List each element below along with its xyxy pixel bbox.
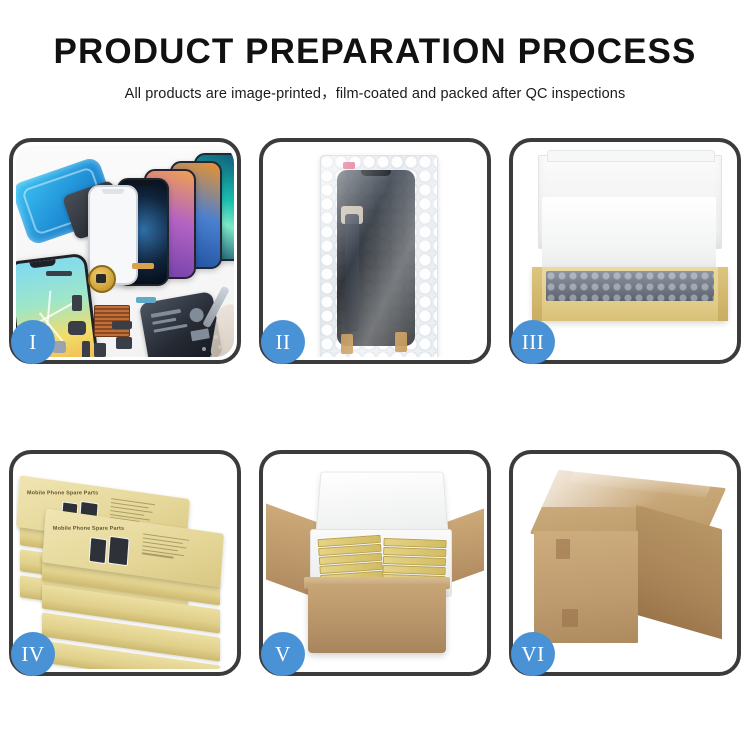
- step-badge-3: III: [511, 320, 555, 364]
- step-badge-4: IV: [11, 632, 55, 676]
- page-subtitle: All products are image-printed，film-coat…: [0, 82, 750, 103]
- step-panel-4: Mobile Phone Spare Parts Mobile Phone Sp…: [9, 450, 241, 676]
- earpiece-mesh-icon: [46, 271, 72, 276]
- connector-right-icon: [395, 332, 407, 352]
- packed-retail-boxes-icon: [319, 537, 443, 581]
- step-panel-2: II: [259, 138, 491, 364]
- box-label-text-back: Mobile Phone Spare Parts: [27, 490, 99, 496]
- bubble-wrapped-items-icon: [546, 271, 714, 301]
- step-panel-1: I: [9, 138, 241, 364]
- tape-strip-lower: [562, 609, 578, 627]
- flex-cable-orange-icon: [132, 263, 154, 269]
- part-bit-a: [72, 295, 82, 311]
- foam-sheet-icon: [542, 197, 716, 275]
- step-badge-1: I: [11, 320, 55, 364]
- carton-body-icon: [308, 585, 446, 653]
- step-3-image: [516, 145, 734, 357]
- part-bit-c: [94, 343, 106, 357]
- step-2-image: [266, 145, 484, 357]
- speaker-coil-icon: [88, 265, 116, 293]
- flex-cable-icon: [345, 214, 359, 332]
- step-4-image: Mobile Phone Spare Parts Mobile Phone Sp…: [16, 457, 234, 669]
- part-bit-e: [112, 321, 132, 329]
- pink-label-icon: [343, 162, 355, 169]
- process-step-grid: I II: [0, 138, 750, 676]
- page-title: PRODUCT PREPARATION PROCESS: [0, 34, 750, 69]
- tray-left-wall: [532, 267, 542, 321]
- step-badge-6: VI: [511, 632, 555, 676]
- connector-left-icon: [341, 334, 353, 354]
- carton-side-face: [636, 505, 722, 640]
- step-6-image: [516, 457, 734, 669]
- box-label-text-front: Mobile Phone Spare Parts: [53, 526, 125, 532]
- step-panel-3: III: [509, 138, 741, 364]
- step-panel-5: V: [259, 450, 491, 676]
- part-bit-b: [68, 321, 86, 335]
- part-bit-d: [116, 337, 132, 349]
- step-1-image: [16, 145, 234, 357]
- tray-right-wall: [718, 267, 728, 321]
- step-badge-5: V: [261, 632, 305, 676]
- product-preparation-infographic: PRODUCT PREPARATION PROCESS All products…: [0, 0, 750, 750]
- step-badge-2: II: [261, 320, 305, 364]
- header: PRODUCT PREPARATION PROCESS All products…: [0, 0, 750, 103]
- part-bit-f: [82, 341, 90, 357]
- step-5-image: [266, 457, 484, 669]
- step-panel-6: VI: [509, 450, 741, 676]
- kraft-tray-box-icon: [532, 267, 728, 321]
- flex-cable-blue-icon: [136, 297, 156, 303]
- foam-lid-icon: [315, 472, 449, 537]
- tape-strip-upper: [556, 539, 570, 559]
- carton-front-face: [534, 531, 638, 643]
- retail-box-stack-icon: Mobile Phone Spare Parts Mobile Phone Sp…: [16, 457, 234, 669]
- bubble-wrap-bag-icon: [320, 155, 438, 357]
